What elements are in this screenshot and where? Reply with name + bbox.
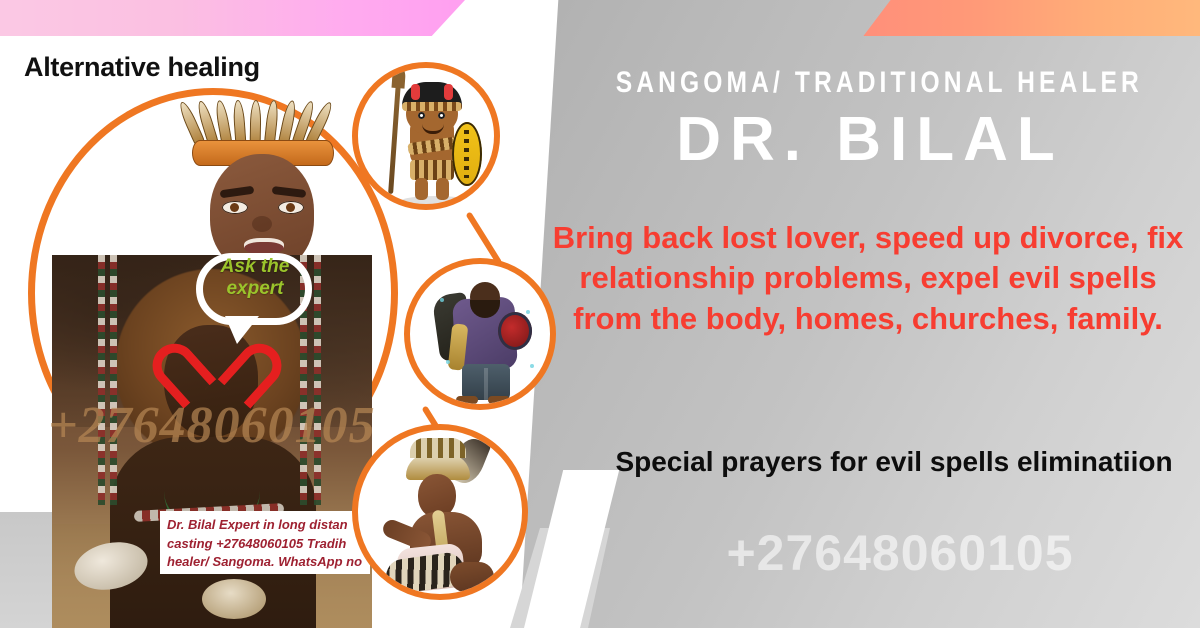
caption-line-1: Dr. Bilal Expert in long distan — [167, 516, 364, 535]
caption-line-3: healer/ Sangoma. WhatsApp no — [167, 553, 364, 572]
brand-name: DR. BILAL — [560, 104, 1180, 175]
photo-caption-box: Dr. Bilal Expert in long distan casting … — [160, 511, 370, 574]
poster-canvas: Ask the expert +27648060105 Dr. Bilal Ex… — [0, 0, 1200, 628]
special-offer-text: Special prayers for evil spells eliminat… — [594, 444, 1194, 480]
orange-accent-bar — [860, 0, 1200, 36]
page-title: Alternative healing — [24, 52, 260, 83]
badge-crouching-dancer — [352, 424, 528, 600]
speech-bubble-tail — [225, 316, 259, 344]
round-shield-icon — [498, 312, 532, 350]
left-composition: Ask the expert +27648060105 Dr. Bilal Ex… — [0, 0, 560, 628]
shield-icon — [452, 122, 482, 186]
badge-cloaked-healer — [404, 258, 556, 410]
badge-zulu-warrior — [352, 62, 500, 210]
panel-watermark-phone: +27648060105 — [610, 524, 1190, 582]
caption-line-2: casting +27648060105 Tradih — [167, 535, 364, 554]
photo-watermark-phone: +27648060105 — [48, 396, 376, 455]
kicker-heading: SANGOMA/ TRADITIONAL HEALER — [616, 66, 1124, 100]
photo-gourd — [202, 579, 266, 619]
speech-bubble-text: Ask the expert — [200, 256, 310, 301]
services-text: Bring back lost lover, speed up divorce,… — [548, 218, 1188, 339]
spear-icon — [388, 82, 401, 194]
